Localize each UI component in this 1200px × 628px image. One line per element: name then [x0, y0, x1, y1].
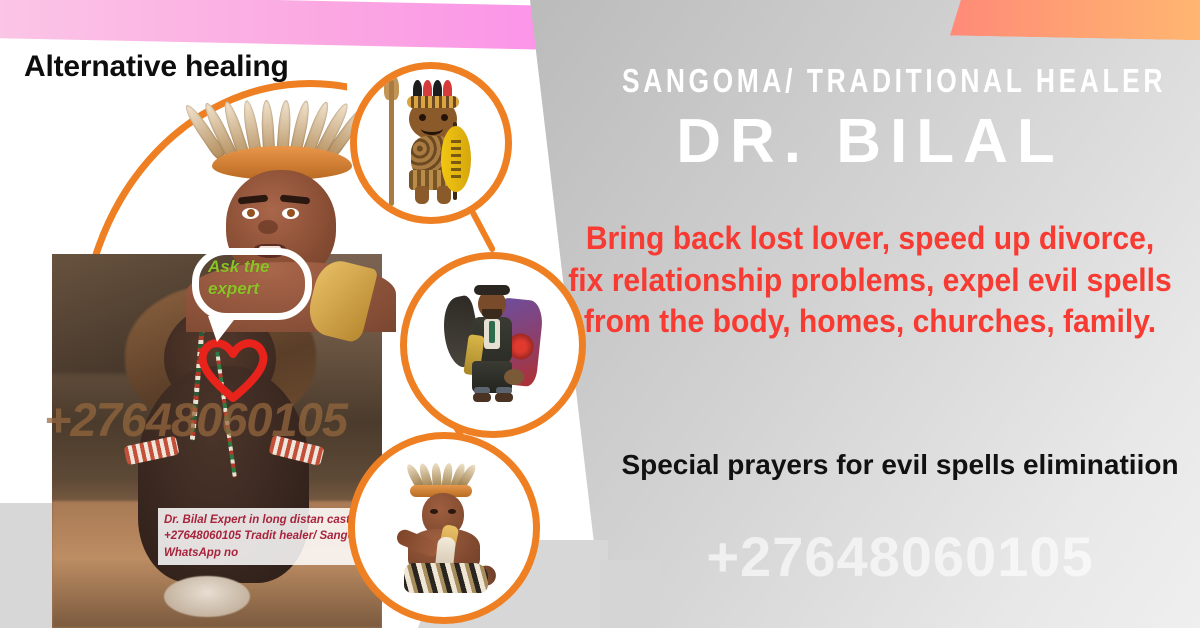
kicker-headline: SANGOMA/ TRADITIONAL HEALER — [622, 62, 1118, 100]
ask-the-expert-bubble: Ask the expert — [192, 248, 312, 320]
services-text: Bring back lost lover, speed up divorce,… — [567, 218, 1172, 343]
heart-icon — [196, 336, 270, 402]
phone-watermark: +27648060105 — [600, 524, 1200, 589]
suited-healer-icon — [438, 283, 548, 407]
orange-accent-bar — [950, 0, 1200, 41]
offer-text: Special prayers for evil spells eliminat… — [600, 446, 1200, 484]
badge-zulu-warrior — [350, 62, 512, 224]
badge-crouching-warrior — [348, 432, 540, 624]
crouching-warrior-icon — [380, 463, 508, 593]
section-title: Alternative healing — [24, 50, 289, 84]
healer-name: DR. BILAL — [560, 106, 1180, 177]
badge-suited-healer — [400, 252, 586, 438]
zulu-warrior-icon — [383, 78, 479, 208]
poster-canvas: Alternative healing +27648060105 Dr. Bil… — [0, 0, 1200, 628]
bubble-text: Ask the expert — [208, 256, 304, 301]
